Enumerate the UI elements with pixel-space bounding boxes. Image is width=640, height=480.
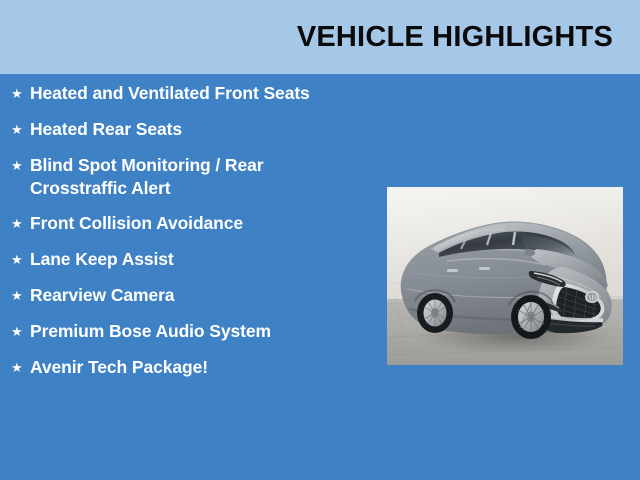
list-item-label: Heated and Ventilated Front Seats <box>30 82 322 105</box>
list-item: ★ Blind Spot Monitoring / Rear Crosstraf… <box>8 154 352 200</box>
list-item-label: Rearview Camera <box>30 284 322 307</box>
slide-header: VEHICLE HIGHLIGHTS <box>0 0 640 74</box>
star-icon: ★ <box>8 82 30 106</box>
list-item: ★ Premium Bose Audio System <box>8 320 352 344</box>
list-item-label: Front Collision Avoidance <box>30 212 322 235</box>
list-item: ★ Avenir Tech Package! <box>8 356 352 380</box>
list-item-label: Premium Bose Audio System <box>30 320 322 343</box>
page-title: VEHICLE HIGHLIGHTS <box>297 21 640 54</box>
star-icon: ★ <box>8 356 30 380</box>
list-item: ★ Front Collision Avoidance <box>8 212 352 236</box>
list-item: ★ Lane Keep Assist <box>8 248 352 272</box>
star-icon: ★ <box>8 320 30 344</box>
star-icon: ★ <box>8 154 30 178</box>
list-item-label: Avenir Tech Package! <box>30 356 322 379</box>
vehicle-highlights-slide: VEHICLE HIGHLIGHTS ★ Heated and Ventilat… <box>0 0 640 480</box>
list-item-label: Heated Rear Seats <box>30 118 322 141</box>
list-item-label: Blind Spot Monitoring / Rear Crosstraffi… <box>30 154 322 200</box>
star-icon: ★ <box>8 248 30 272</box>
list-item-label: Lane Keep Assist <box>30 248 322 271</box>
star-icon: ★ <box>8 212 30 236</box>
highlights-list: ★ Heated and Ventilated Front Seats ★ He… <box>0 74 352 480</box>
star-icon: ★ <box>8 118 30 142</box>
list-item: ★ Heated and Ventilated Front Seats <box>8 82 352 106</box>
list-item: ★ Rearview Camera <box>8 284 352 308</box>
vehicle-photo-illustration <box>387 187 623 365</box>
star-icon: ★ <box>8 284 30 308</box>
vehicle-photo <box>387 187 623 365</box>
list-item: ★ Heated Rear Seats <box>8 118 352 142</box>
